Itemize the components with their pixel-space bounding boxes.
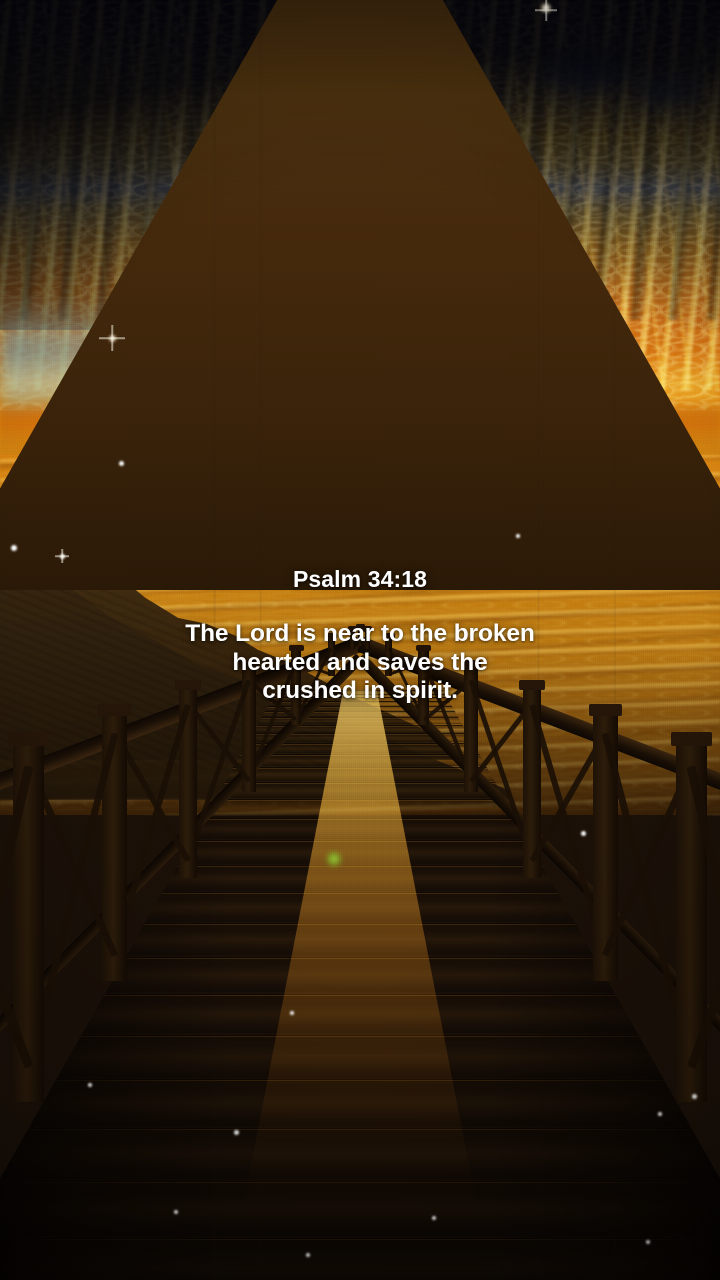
railing-cross-brace bbox=[25, 764, 117, 957]
verse-text: The Lord is near to the brokenhearted an… bbox=[0, 620, 720, 706]
railing-cross-brace bbox=[112, 731, 190, 862]
verse-line: The Lord is near to the broken bbox=[185, 620, 535, 647]
boardwalk-reflection-glow bbox=[150, 690, 570, 1210]
railing-post-cap bbox=[8, 732, 49, 746]
railing-cross-brace bbox=[0, 803, 33, 1069]
sparkle-particle bbox=[540, 2, 552, 14]
verse-line: crushed in spirit. bbox=[262, 677, 458, 704]
green-light-spot bbox=[326, 851, 342, 867]
railing-cross-brace bbox=[529, 731, 607, 862]
boardwalk-plank bbox=[0, 754, 720, 767]
boardwalk-plank bbox=[0, 743, 720, 754]
railing-cross-brace bbox=[469, 702, 533, 783]
sparkle-particle bbox=[234, 1130, 239, 1135]
wallpaper-image: Psalm 34:18 The Lord is near to the brok… bbox=[0, 0, 720, 1280]
boardwalk-plank bbox=[0, 923, 720, 956]
railing-cross-brace bbox=[687, 766, 720, 1196]
railing-post bbox=[676, 735, 707, 1101]
boardwalk-deck bbox=[0, 0, 720, 590]
railing-lower-rail bbox=[356, 654, 720, 1100]
sparkle-particle bbox=[290, 1011, 294, 1015]
railing-post bbox=[102, 707, 126, 981]
boardwalk-plank bbox=[0, 957, 720, 993]
railing-post-cap bbox=[671, 732, 712, 746]
verse-line: hearted and saves the bbox=[232, 649, 487, 676]
railing-cross-brace bbox=[602, 764, 694, 957]
boardwalk-plank bbox=[0, 1079, 720, 1126]
verse-reference: Psalm 34:18 bbox=[0, 566, 720, 592]
boardwalk-plank bbox=[0, 994, 720, 1033]
blue-sky-patch bbox=[636, 72, 700, 106]
boardwalk-plank bbox=[0, 1238, 720, 1280]
railing-post bbox=[179, 683, 198, 878]
boardwalk-plank bbox=[0, 892, 720, 921]
verse-overlay: Psalm 34:18 The Lord is near to the brok… bbox=[0, 566, 720, 706]
railing-cross-brace bbox=[186, 680, 251, 861]
sparkle-particle bbox=[692, 1094, 697, 1099]
boardwalk-plank bbox=[0, 733, 720, 742]
boardwalk-plank bbox=[0, 1181, 720, 1237]
sparkle-particle bbox=[174, 1210, 178, 1214]
boardwalk-plank bbox=[0, 711, 720, 717]
boardwalk-plank bbox=[0, 1128, 720, 1179]
sparkle-particle bbox=[306, 1253, 310, 1257]
boardwalk-plank bbox=[0, 865, 720, 891]
railing-post bbox=[523, 683, 542, 878]
railing-cross-brace bbox=[687, 803, 720, 1069]
blue-sky-patch bbox=[540, 48, 630, 92]
sparkle-particle bbox=[658, 1112, 662, 1116]
boardwalk-plank bbox=[0, 818, 720, 839]
boardwalk-plank bbox=[0, 717, 720, 724]
railing-cross-brace bbox=[469, 680, 534, 861]
sparkle-particle bbox=[88, 1083, 92, 1087]
railing-post bbox=[593, 707, 617, 981]
railing-cross-brace bbox=[0, 766, 33, 1196]
railing-cross-brace bbox=[25, 732, 118, 1067]
railing-cross-brace bbox=[186, 702, 250, 783]
railing-cross-brace bbox=[529, 704, 608, 956]
boardwalk-edge-shading bbox=[0, 690, 720, 1280]
star-sparkle bbox=[535, 0, 557, 21]
railing-cross-brace bbox=[602, 732, 695, 1067]
boardwalk-plank bbox=[0, 799, 720, 818]
sparkle-particle bbox=[581, 831, 586, 836]
boardwalk-plank bbox=[0, 840, 720, 864]
boardwalk-planks bbox=[0, 690, 720, 1280]
sparkle-particle bbox=[432, 1216, 436, 1220]
boardwalk-plank bbox=[0, 767, 720, 781]
railing-lower-rail bbox=[0, 654, 364, 1100]
railing-cross-brace bbox=[112, 704, 191, 956]
boardwalk-plank bbox=[0, 706, 720, 711]
boardwalk-plank bbox=[0, 1035, 720, 1078]
boardwalk-plank bbox=[0, 725, 720, 733]
railing-post bbox=[13, 735, 44, 1101]
boardwalk-plank bbox=[0, 782, 720, 798]
sparkle-particle bbox=[646, 1240, 650, 1244]
